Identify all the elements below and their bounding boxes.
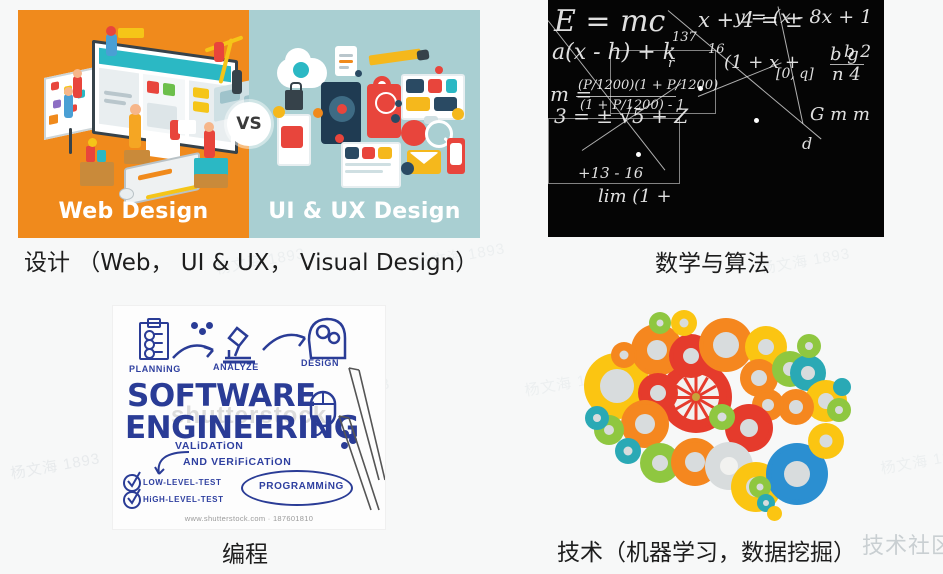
watermark: 杨文海 1893 — [759, 242, 852, 278]
cloud-badge — [293, 62, 309, 78]
browser-line — [345, 163, 391, 166]
person-head — [64, 87, 73, 96]
pencil-tip — [416, 49, 429, 61]
formula: [0, q] — [776, 66, 814, 82]
formula: lim (1 + — [598, 186, 672, 207]
spark-dot — [199, 328, 206, 335]
dot-accent — [391, 114, 400, 123]
person-figure — [232, 70, 242, 94]
formula: n 4 — [832, 64, 861, 85]
dot-accent — [395, 100, 402, 107]
person-figure — [204, 130, 215, 158]
chalk-box — [548, 118, 680, 184]
crane-arm — [205, 35, 244, 52]
person-figure — [106, 34, 117, 56]
sub-line-verification: AND VERiFiCATiON — [183, 456, 291, 468]
pencil-icon — [369, 48, 422, 65]
person-figure — [129, 114, 141, 148]
browser-tile — [362, 147, 375, 159]
gear-orange-mid — [781, 392, 811, 422]
monitor-tile — [406, 97, 430, 111]
checklist-item-low-level: LOW-LEVEL-TEST — [143, 478, 221, 487]
caption-design: 设计 （Web， UI & UX， Visual Design） — [24, 243, 478, 277]
person-figure — [64, 94, 73, 118]
caption-math: 数学与算法 — [655, 244, 770, 278]
gear-teal-bottom — [617, 440, 639, 462]
dot-accent — [313, 108, 323, 118]
head-gear-icon — [301, 314, 349, 362]
monitor-tile — [406, 79, 424, 93]
formula: m = — [550, 82, 592, 106]
flow-label-design: DESiGN — [301, 358, 339, 368]
gear-green-top — [799, 336, 819, 356]
vs-badge: VS — [227, 102, 271, 146]
gear-red-right — [729, 408, 769, 448]
sticky-note — [48, 113, 59, 126]
phone-screen — [450, 143, 462, 165]
clipboard-clip — [147, 318, 161, 328]
person-figure — [73, 76, 82, 98]
gear-orange — [635, 328, 679, 372]
flow-label-planning: PLANNiNG — [129, 364, 181, 374]
person-head — [204, 122, 214, 132]
callout-programming: PROGRAMMiNG — [259, 481, 344, 492]
check-icon — [125, 487, 143, 509]
monitor-tile — [446, 79, 457, 93]
panel-web-design: Web Design — [18, 10, 249, 238]
dot-accent — [401, 162, 414, 175]
formula: b 2 — [844, 42, 871, 62]
person-figure — [214, 42, 224, 62]
gear-teal-left — [587, 408, 607, 428]
browser-line — [345, 170, 383, 173]
panel-title-ui-ux-design: UI & UX Design — [249, 199, 480, 224]
caption-programming: 编程 — [222, 535, 268, 569]
caption-technology: 技术（机器学习，数据挖掘） — [557, 533, 856, 567]
person-head — [106, 26, 116, 36]
browser-tile — [345, 147, 359, 159]
watermark-community: 技术社区 — [862, 528, 943, 560]
gear-green-topleft — [651, 314, 669, 332]
gear-orange-topleft — [613, 344, 635, 366]
tool-crate — [80, 162, 114, 186]
microscope-icon — [217, 320, 263, 366]
tablet — [178, 120, 196, 134]
chart-area — [281, 126, 303, 148]
formula: E = mc — [554, 4, 665, 39]
watermark: 杨文海 1893 — [879, 442, 943, 478]
dot-accent — [335, 134, 344, 143]
gear-yellow-edge — [811, 426, 841, 456]
flow-label-analyze: ANALYZE — [213, 362, 259, 372]
board-leg — [69, 128, 72, 154]
dot-accent — [401, 120, 427, 146]
person-head — [130, 104, 141, 115]
figure-technology-brain — [553, 300, 853, 532]
gear-orange-lower — [625, 404, 665, 444]
figure-math-algorithms: E = mc x + 4 = ± a(x - h) + k (P/1200)(1… — [548, 0, 884, 237]
gear-blue-cerebellum — [771, 448, 823, 500]
formula: y = (x - 8x + 1 — [734, 6, 872, 28]
arrow-icon — [147, 450, 191, 480]
document-line — [339, 60, 353, 63]
toolbar-panel — [118, 28, 144, 38]
monitor-tile — [428, 79, 442, 93]
clipboard-line — [154, 333, 163, 335]
formula: d — [802, 134, 812, 153]
panel-title-web-design: Web Design — [18, 199, 249, 224]
clipboard-line — [154, 342, 163, 344]
spark-dot — [191, 322, 198, 329]
gear-teal-edge — [835, 380, 849, 394]
dot-accent — [273, 106, 285, 118]
panel-ui-ux-design: UI & UX Design — [249, 10, 480, 238]
tool — [86, 146, 95, 162]
spark-dot — [206, 322, 213, 329]
gear-green-bottom — [643, 446, 677, 480]
chalk-point — [754, 118, 759, 123]
chalk-point — [636, 152, 641, 157]
person-head — [73, 69, 82, 78]
chalk-box — [610, 50, 716, 114]
watermark: 杨文海 1893 — [9, 447, 102, 483]
checkbox-icon — [144, 348, 155, 359]
gear-orange-top — [703, 322, 749, 368]
dot-accent — [435, 66, 443, 74]
slide-canvas: 杨文海 1893 杨文海 1893 杨文海 1893 杨文海 1893 杨文海 … — [0, 0, 943, 574]
gear-yellow-top — [673, 312, 695, 334]
server-dial — [375, 92, 397, 114]
pedestal-base — [194, 174, 228, 188]
gear-green-stem — [751, 478, 769, 496]
clipboard-line — [154, 351, 163, 353]
document-line — [339, 54, 353, 57]
gear-orange-small — [743, 362, 775, 394]
figure-web-ux-design: Web Design — [18, 10, 480, 238]
document-line — [339, 66, 349, 69]
tool — [97, 150, 106, 162]
tool — [88, 138, 97, 147]
gear-teal — [793, 358, 823, 388]
lock-shackle — [290, 82, 302, 94]
figure-software-engineering: PLANNiNG ANALYZE DESiGN shutterst — [112, 305, 386, 530]
hard-drive-spindle — [337, 104, 347, 114]
step-ladder — [124, 150, 150, 164]
browser-tile — [378, 147, 392, 159]
checklist-item-high-level: HiGH-LEVEL-TEST — [143, 495, 224, 504]
chalk-point — [698, 86, 703, 91]
arrow-icon — [171, 336, 217, 362]
dot-accent — [355, 70, 362, 77]
gear-green-edge — [829, 400, 849, 420]
gear-green-mid — [711, 406, 733, 428]
stock-credit: www.shutterstock.com · 187601810 — [113, 514, 385, 523]
dot-accent — [452, 108, 464, 120]
formula: G m m — [810, 104, 870, 125]
title-line-software: SOFTWARE — [127, 378, 316, 414]
gear-yellow-stem — [769, 508, 780, 519]
